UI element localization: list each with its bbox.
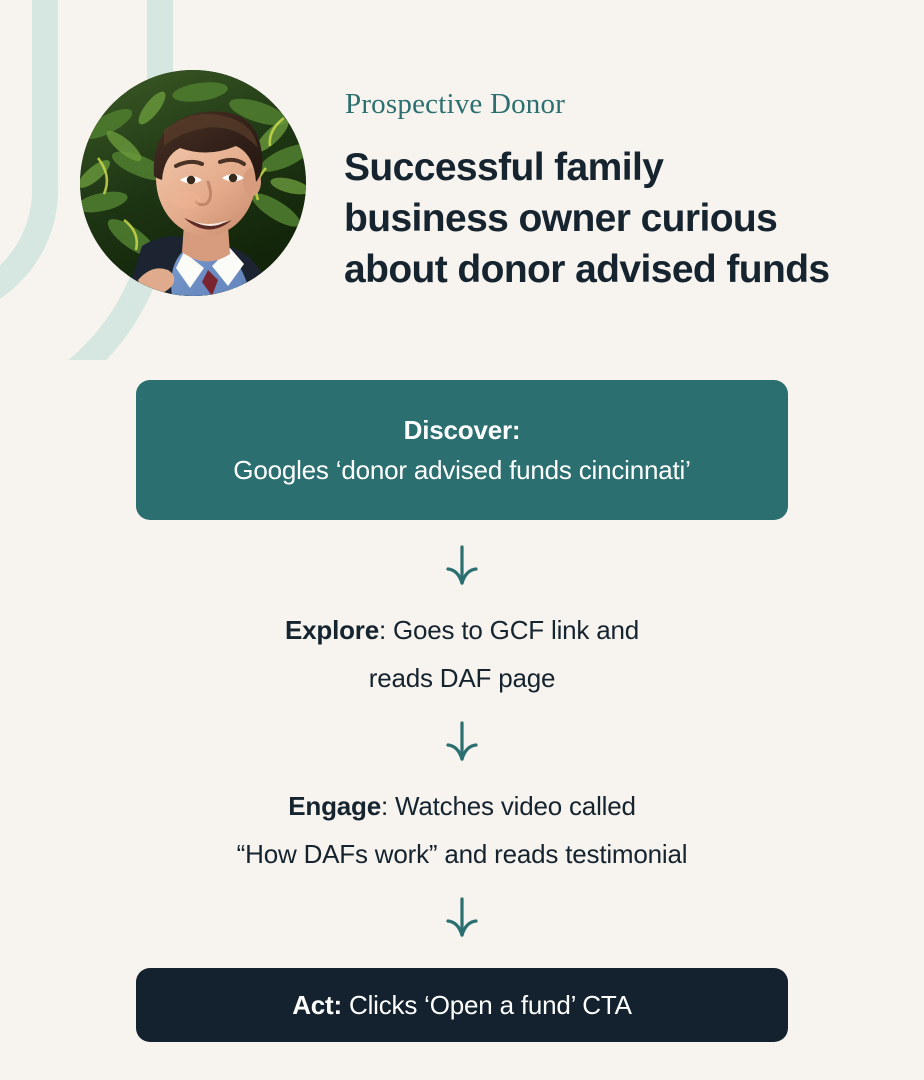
step-explore-separator: :: [379, 615, 386, 645]
step-label-explore: Explore: [285, 615, 379, 645]
headline-line-1: Successful family: [344, 142, 904, 193]
journey-step-discover: Discover: Googles ‘donor advised funds c…: [136, 380, 788, 520]
step-explore-line-2: reads DAF page: [0, 654, 924, 702]
step-label-engage: Engage: [288, 791, 381, 821]
journey-step-explore: Explore: Goes to GCF link and reads DAF …: [0, 606, 924, 702]
page-title: Successful family business owner curious…: [344, 142, 904, 295]
step-engage-line-2: “How DAFs work” and reads testimonial: [0, 830, 924, 878]
step-detail-act: Clicks ‘Open a fund’ CTA: [342, 990, 632, 1020]
arrow-down-icon: [0, 538, 924, 594]
headline-line-2: business owner curious: [344, 193, 904, 244]
avatar: [80, 70, 306, 296]
step-explore-line-1: Explore: Goes to GCF link and: [0, 606, 924, 654]
step-engage-separator: :: [381, 791, 388, 821]
step-engage-line-1: Engage: Watches video called: [0, 782, 924, 830]
journey-flow: Discover: Googles ‘donor advised funds c…: [0, 380, 924, 1042]
arrow-down-icon: [0, 890, 924, 946]
persona-eyebrow: Prospective Donor: [345, 88, 565, 121]
step-detail-discover: Googles ‘donor advised funds cincinnati’: [233, 450, 690, 490]
arrow-down-icon: [0, 714, 924, 770]
step-engage-detail-1: Watches video called: [388, 791, 636, 821]
step-act-line: Act: Clicks ‘Open a fund’ CTA: [292, 985, 632, 1025]
step-explore-detail-1: Goes to GCF link and: [386, 615, 639, 645]
journey-step-act: Act: Clicks ‘Open a fund’ CTA: [136, 968, 788, 1042]
headline-line-3: about donor advised funds: [344, 244, 904, 295]
journey-step-engage: Engage: Watches video called “How DAFs w…: [0, 782, 924, 878]
step-label-discover: Discover:: [404, 410, 521, 450]
step-label-act: Act:: [292, 990, 342, 1020]
persona-journey-card: Prospective Donor Successful family busi…: [0, 0, 924, 1080]
